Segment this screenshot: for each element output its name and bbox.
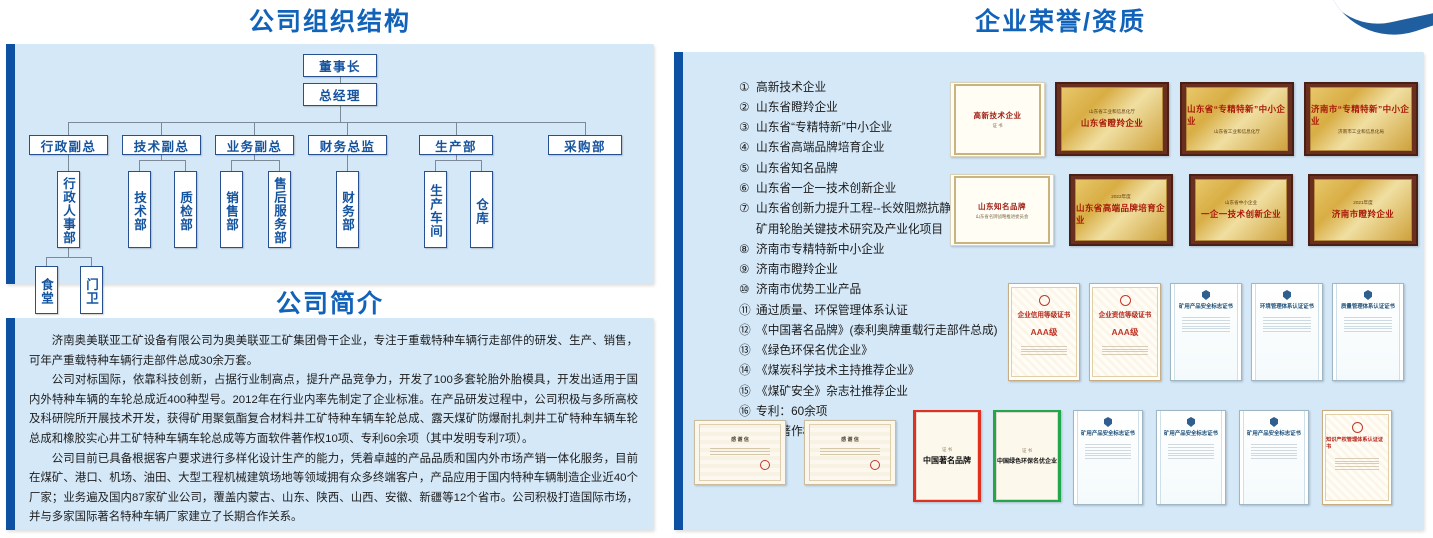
certificate-shandong-sme[interactable]: 山东省“专精特新”中小企业 山东省工业和信息化厅 bbox=[1180, 82, 1294, 156]
seal-icon bbox=[1120, 295, 1131, 306]
shield-icon bbox=[1187, 417, 1195, 427]
certificate-china-famous-brand[interactable]: 证 书 中国著名品牌 bbox=[913, 410, 981, 502]
certificate-title: 质量管理体系认证证书 bbox=[1341, 302, 1395, 310]
certificate-shandong-gazelle[interactable]: 山东省工业和信息化厅 山东省瞪羚企业 bbox=[1055, 82, 1169, 156]
seal-icon bbox=[1039, 295, 1050, 306]
poster-page: 公司组织结构 bbox=[0, 0, 1433, 538]
shield-icon bbox=[1104, 417, 1112, 427]
connector bbox=[231, 160, 279, 161]
certificate-subtitle: 济南市工业和信息化局 bbox=[1338, 129, 1384, 135]
certificate-china-green-enterprise[interactable]: 证 书 中国绿色环保名优企业 bbox=[993, 410, 1061, 502]
certificate-title: 企业信用等级证书 bbox=[1018, 309, 1071, 319]
certificate-one-enterprise-one-tech[interactable]: 山东省中小企业 一企一技术创新企业 bbox=[1189, 174, 1293, 246]
connector bbox=[139, 160, 140, 171]
certificate-environment-management-system[interactable]: 环境管理体系认证证书 bbox=[1251, 283, 1323, 381]
certificate-subtitle: 山东省工业和信息化厅 bbox=[1214, 129, 1260, 135]
certificate-shandong-famous-brand[interactable]: 山东知名品牌 山东省名牌战略推进委员会 bbox=[950, 174, 1054, 246]
connector bbox=[585, 122, 586, 135]
certificate-title: 中国绿色环保名优企业 bbox=[997, 456, 1057, 465]
certificate-title: 矿用产品安全标志证书 bbox=[1247, 429, 1301, 437]
connector bbox=[254, 122, 255, 135]
certificate-thank-you-letter-2[interactable]: 感 谢 信 bbox=[804, 420, 896, 485]
org-node-admin-vp[interactable]: 行政副总 bbox=[29, 135, 108, 155]
intro-paragraph: 公司目前已具备根据客户要求进行多样化设计生产的能力，凭着卓越的产品品质和国内外市… bbox=[29, 450, 638, 528]
certificate-high-tech-enterprise[interactable]: 高新技术企业 证 书 bbox=[950, 82, 1045, 157]
seal-icon bbox=[1352, 422, 1363, 433]
certificate-title: 矿用产品安全标志证书 bbox=[1164, 429, 1218, 437]
certificate-mining-safety-mark-4[interactable]: 矿用产品安全标志证书 bbox=[1239, 410, 1309, 505]
connector bbox=[279, 160, 280, 171]
certificate-grade: AAA级 bbox=[1112, 326, 1139, 338]
certificate-subtitle: 山东省工业和信息化厅 bbox=[1089, 109, 1135, 115]
org-node-business-vp[interactable]: 业务副总 bbox=[215, 135, 294, 155]
certificate-subtitle: 山东省名牌战略推进委员会 bbox=[976, 214, 1029, 220]
connector bbox=[68, 248, 69, 257]
left-column: 公司组织结构 bbox=[0, 0, 660, 538]
certificate-body-lines bbox=[820, 446, 881, 457]
org-node-tech-vp[interactable]: 技术副总 bbox=[122, 135, 201, 155]
certificate-title: 中国著名品牌 bbox=[923, 455, 971, 466]
connector bbox=[46, 257, 91, 258]
certificate-title: 山东省瞪羚企业 bbox=[1081, 117, 1143, 129]
connector bbox=[340, 106, 341, 122]
certificate-title: 感 谢 信 bbox=[731, 436, 749, 443]
org-chart: 董事长 总经理 行政副总 技术副总 业务副总 财务总监 生产部 采购部 行政人事… bbox=[15, 44, 654, 284]
connector bbox=[68, 122, 585, 123]
org-node-warehouse[interactable]: 仓库 bbox=[470, 171, 493, 248]
connector bbox=[185, 160, 186, 171]
shield-icon bbox=[1364, 290, 1372, 300]
company-intro-panel: 济南奥美联亚工矿设备有限公司为奥美联亚工矿集团骨干企业，专注于重载特种车辆行走部… bbox=[6, 318, 654, 530]
connector bbox=[68, 154, 69, 171]
certificate-body-lines bbox=[1335, 456, 1380, 472]
org-chart-title: 公司组织结构 bbox=[0, 0, 660, 44]
certificate-body-lines bbox=[1102, 344, 1148, 357]
certificate-title: 山东省“专精特新”中小企业 bbox=[1187, 103, 1287, 127]
certificate-title: 感 谢 信 bbox=[841, 436, 859, 443]
certificate-jinan-sme[interactable]: 济南市“专精特新”中小企业 济南市工业和信息化局 bbox=[1304, 82, 1418, 156]
honor-title: 企业荣誉/资质 bbox=[660, 0, 1433, 44]
org-node-aftersales-dept[interactable]: 售后服务部 bbox=[268, 171, 291, 248]
certificate-gallery: 高新技术企业 证 书 山东省工业和信息化厅 山东省瞪羚企业 山东省“专精特新”中… bbox=[683, 52, 1424, 530]
org-node-general-manager[interactable]: 总经理 bbox=[303, 83, 377, 106]
certificate-mining-safety-mark-1[interactable]: 矿用产品安全标志证书 bbox=[1170, 283, 1242, 381]
certificate-title: 山东知名品牌 bbox=[978, 201, 1026, 212]
certificate-subtitle: 证 书 bbox=[1022, 448, 1032, 454]
connector bbox=[347, 122, 348, 135]
connector bbox=[161, 122, 162, 135]
connector bbox=[347, 154, 348, 171]
certificate-quality-management-system[interactable]: 质量管理体系认证证书 bbox=[1332, 283, 1404, 381]
certificate-title: 知识产权管理体系认证证书 bbox=[1326, 436, 1388, 450]
org-chart-panel: 董事长 总经理 行政副总 技术副总 业务副总 财务总监 生产部 采购部 行政人事… bbox=[6, 44, 654, 284]
intro-paragraph: 济南奥美联亚工矿设备有限公司为奥美联亚工矿集团骨干企业，专注于重载特种车辆行走部… bbox=[29, 332, 638, 371]
org-node-workshop[interactable]: 生产车间 bbox=[424, 171, 447, 248]
certificate-body-lines bbox=[1085, 442, 1131, 461]
seal-icon bbox=[870, 460, 880, 470]
org-node-production-dept[interactable]: 生产部 bbox=[419, 135, 493, 155]
certificate-title: 高新技术企业 bbox=[974, 110, 1022, 121]
certificate-body-lines bbox=[1263, 315, 1310, 334]
certificate-title: 山东省高端品牌培育企业 bbox=[1076, 202, 1166, 226]
shield-icon bbox=[1270, 417, 1278, 427]
connector bbox=[435, 160, 436, 171]
org-node-finance-director[interactable]: 财务总监 bbox=[308, 135, 387, 155]
certificate-title: 环境管理体系认证证书 bbox=[1260, 302, 1314, 310]
certificate-body-lines bbox=[1168, 442, 1214, 461]
certificate-credit-rating-aaa[interactable]: 企业信用等级证书 AAA级 bbox=[1008, 283, 1080, 381]
connector bbox=[481, 160, 482, 171]
connector bbox=[91, 257, 92, 266]
org-node-purchasing-dept[interactable]: 采购部 bbox=[548, 135, 622, 155]
certificate-mining-safety-mark-2[interactable]: 矿用产品安全标志证书 bbox=[1073, 410, 1143, 505]
certificate-title: 矿用产品安全标志证书 bbox=[1081, 429, 1135, 437]
org-node-qc-dept[interactable]: 质检部 bbox=[174, 171, 197, 248]
certificate-grade: AAA级 bbox=[1031, 326, 1058, 338]
certificate-subtitle: 2022年度 bbox=[1111, 194, 1130, 200]
connector bbox=[68, 122, 69, 135]
intro-paragraph: 公司对标国际，依靠科技创新，占据行业制高点，提升产品竞争力，开发了100多套轮胎… bbox=[29, 371, 638, 449]
certificate-title: 企业资信等级证书 bbox=[1099, 309, 1152, 319]
certificate-subtitle: 证 书 bbox=[942, 447, 952, 453]
connector bbox=[46, 257, 47, 266]
certificate-subtitle: 证 书 bbox=[992, 123, 1002, 129]
connector bbox=[435, 160, 481, 161]
company-intro-text: 济南奥美联亚工矿设备有限公司为奥美联亚工矿集团骨干企业，专注于重载特种车辆行走部… bbox=[15, 318, 654, 538]
right-column: 企业荣誉/资质 ①高新技术企业 ②山东省瞪羚企业 ③山东省“专精特新”中小企业 … bbox=[660, 0, 1433, 538]
org-node-finance-dept[interactable]: 财务部 bbox=[336, 171, 359, 248]
certificate-thank-you-letter-1[interactable]: 感 谢 信 bbox=[694, 420, 786, 485]
shield-icon bbox=[1202, 290, 1210, 300]
certificate-body-lines bbox=[1021, 344, 1067, 357]
certificate-body-lines bbox=[1344, 315, 1391, 334]
certificate-title: 矿用产品安全标志证书 bbox=[1179, 302, 1233, 310]
certificate-body-lines bbox=[1251, 442, 1297, 461]
certificate-subtitle: 2021年度 bbox=[1353, 200, 1372, 206]
certificate-jinan-gazelle[interactable]: 2021年度 济南市瞪羚企业 bbox=[1308, 174, 1418, 246]
seal-icon bbox=[760, 460, 770, 470]
org-node-admin-hr-dept[interactable]: 行政人事部 bbox=[57, 171, 80, 248]
certificate-title: 济南市瞪羚企业 bbox=[1332, 208, 1394, 220]
certificate-title: 济南市“专精特新”中小企业 bbox=[1311, 103, 1411, 127]
org-node-tech-dept[interactable]: 技术部 bbox=[128, 171, 151, 248]
certificate-subtitle: 山东省中小企业 bbox=[1225, 200, 1257, 206]
connector bbox=[139, 160, 185, 161]
org-node-sales-dept[interactable]: 销售部 bbox=[220, 171, 243, 248]
certificate-mining-safety-mark-3[interactable]: 矿用产品安全标志证书 bbox=[1156, 410, 1226, 505]
honor-panel: ①高新技术企业 ②山东省瞪羚企业 ③山东省“专精特新”中小企业 ④山东省高端品牌… bbox=[674, 52, 1424, 530]
connector bbox=[456, 122, 457, 135]
certificate-ip-management-system[interactable]: 知识产权管理体系认证证书 bbox=[1322, 410, 1392, 505]
certificate-creditworthiness-aaa[interactable]: 企业资信等级证书 AAA级 bbox=[1089, 283, 1161, 381]
org-node-chairman[interactable]: 董事长 bbox=[303, 54, 377, 77]
shield-icon bbox=[1283, 290, 1291, 300]
certificate-body-lines bbox=[710, 446, 771, 457]
certificate-body-lines bbox=[1182, 315, 1229, 334]
certificate-title: 一企一技术创新企业 bbox=[1201, 208, 1281, 220]
connector bbox=[231, 160, 232, 171]
certificate-high-end-brand-cultivation[interactable]: 2022年度 山东省高端品牌培育企业 bbox=[1069, 174, 1173, 246]
